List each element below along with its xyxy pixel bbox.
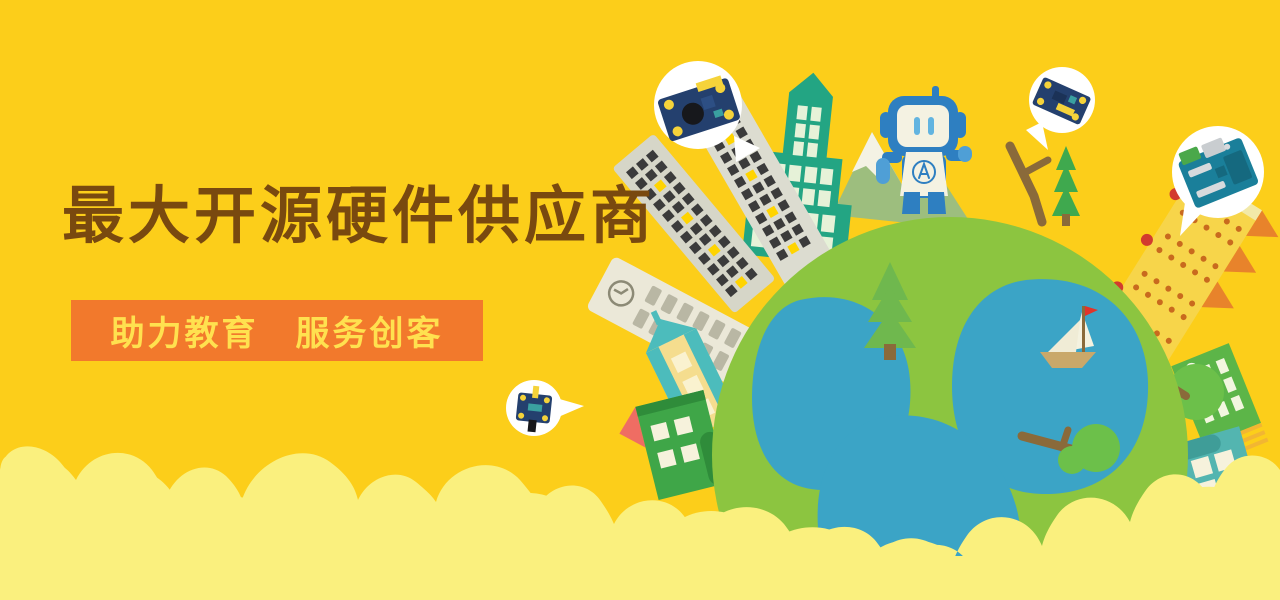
bare-branch-top-right-icon	[1010, 146, 1048, 222]
pine-tree-top-right-icon	[1052, 146, 1080, 226]
sensor-board-bubble-bottom-left	[506, 380, 584, 436]
subtitle-text: 助力教育 服务创客	[111, 306, 444, 355]
sensor-board-bubble-top-right	[1026, 67, 1095, 150]
promo-banner: 最大开源硬件供应商 助力教育 服务创客	[0, 0, 1280, 600]
subtitle-banner: 助力教育 服务创客	[71, 300, 483, 361]
robot-eye-left	[914, 117, 920, 135]
robot-eye-right	[928, 117, 934, 135]
page-title: 最大开源硬件供应商	[62, 186, 656, 248]
